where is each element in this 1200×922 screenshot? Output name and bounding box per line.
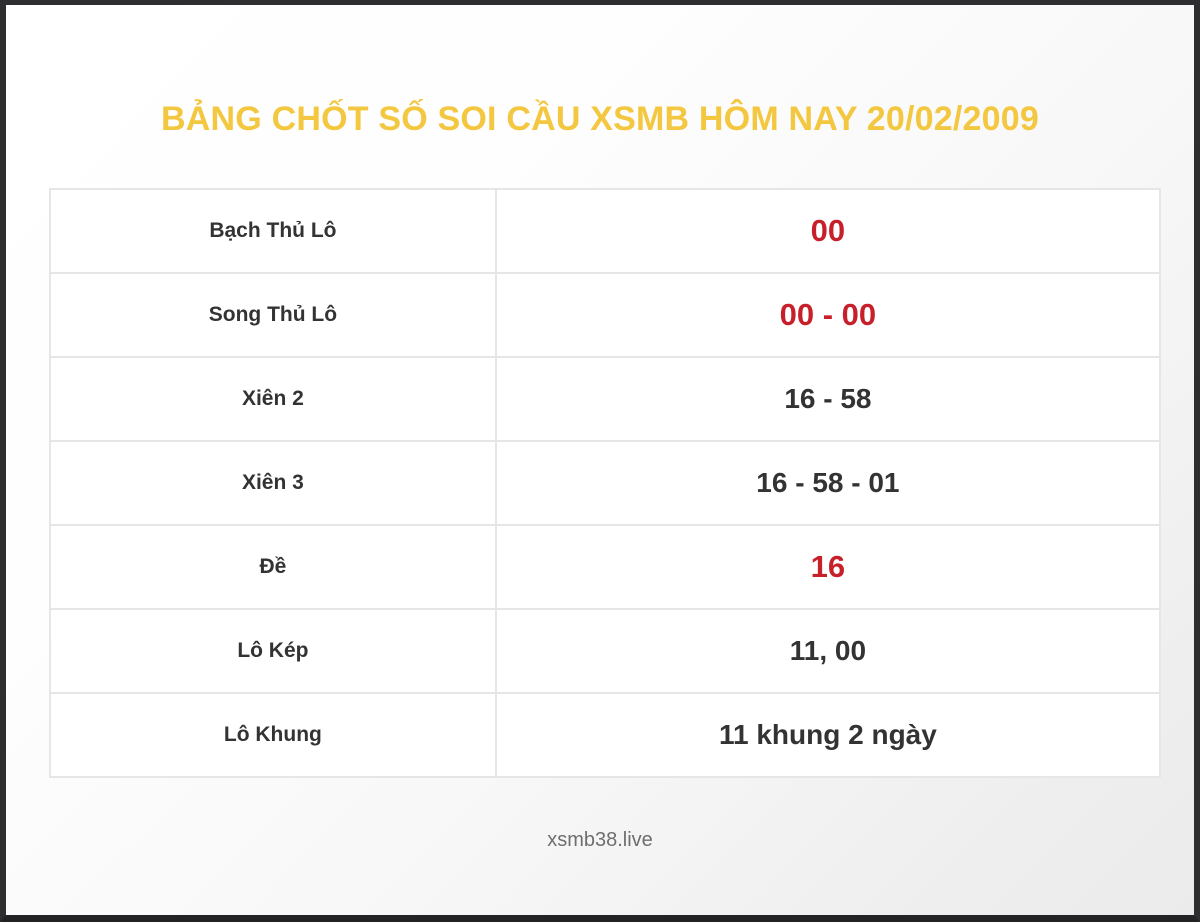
screenshot-frame: BẢNG CHỐT SỐ SOI CẦU XSMB HÔM NAY 20/02/…	[0, 0, 1200, 922]
page-background: BẢNG CHỐT SỐ SOI CẦU XSMB HÔM NAY 20/02/…	[6, 5, 1194, 915]
row-label: Xiên 3	[50, 441, 496, 525]
table-row: Xiên 2 16 - 58	[50, 357, 1160, 441]
row-label: Song Thủ Lô	[50, 273, 496, 357]
table-row: Xiên 3 16 - 58 - 01	[50, 441, 1160, 525]
row-value: 16 - 58 - 01	[496, 441, 1160, 525]
row-value: 11, 00	[496, 609, 1160, 693]
table-row: Đề 16	[50, 525, 1160, 609]
row-value: 11 khung 2 ngày	[496, 693, 1160, 777]
row-value: 16 - 58	[496, 357, 1160, 441]
row-value: 00 - 00	[496, 273, 1160, 357]
site-watermark: xsmb38.live	[6, 829, 1194, 852]
page-title: BẢNG CHỐT SỐ SOI CẦU XSMB HÔM NAY 20/02/…	[6, 98, 1194, 140]
prediction-table-body: Bạch Thủ Lô 00 Song Thủ Lô 00 - 00 Xiên …	[50, 189, 1160, 777]
prediction-table: Bạch Thủ Lô 00 Song Thủ Lô 00 - 00 Xiên …	[49, 188, 1161, 778]
row-label: Xiên 2	[50, 357, 496, 441]
row-label: Lô Kép	[50, 609, 496, 693]
row-value: 00	[496, 189, 1160, 273]
table-row: Lô Kép 11, 00	[50, 609, 1160, 693]
table-row: Bạch Thủ Lô 00	[50, 189, 1160, 273]
row-label: Bạch Thủ Lô	[50, 189, 496, 273]
row-label: Đề	[50, 525, 496, 609]
table-row: Song Thủ Lô 00 - 00	[50, 273, 1160, 357]
row-label: Lô Khung	[50, 693, 496, 777]
table-row: Lô Khung 11 khung 2 ngày	[50, 693, 1160, 777]
row-value: 16	[496, 525, 1160, 609]
